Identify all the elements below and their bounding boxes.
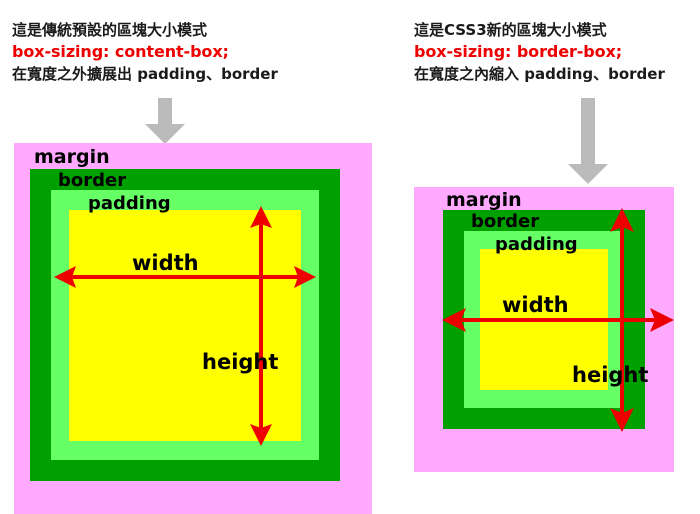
down-arrow-icon-left xyxy=(138,98,192,146)
caption-right-line-1: 這是CSS3新的區塊大小模式 xyxy=(414,20,665,41)
height-label-left: height xyxy=(202,350,278,374)
caption-left-code: box-sizing: content-box; xyxy=(12,41,278,64)
margin-label-right: margin xyxy=(446,189,522,211)
height-label-right: height xyxy=(572,363,648,387)
caption-left-line-3: 在寬度之外擴展出 padding、border xyxy=(12,64,278,85)
caption-border-box: 這是CSS3新的區塊大小模式 box-sizing: border-box; 在… xyxy=(414,20,665,85)
padding-label-right: padding xyxy=(495,234,578,255)
border-label-right: border xyxy=(471,211,539,232)
caption-left-line-1: 這是傳統預設的區塊大小模式 xyxy=(12,20,278,41)
caption-right-code: box-sizing: border-box; xyxy=(414,41,665,64)
margin-label-left: margin xyxy=(34,146,110,168)
caption-right-line-3: 在寬度之內縮入 padding、border xyxy=(414,64,665,85)
box-model-diagram-content-box: margin border padding width height xyxy=(14,143,372,514)
box-model-diagram-border-box: margin border padding width height xyxy=(414,187,674,472)
width-label-right: width xyxy=(502,293,569,317)
height-arrow-right xyxy=(610,208,634,432)
down-arrow-icon-right xyxy=(561,98,615,186)
height-arrow-left xyxy=(249,206,273,446)
border-label-left: border xyxy=(58,170,126,191)
padding-label-left: padding xyxy=(88,193,171,214)
width-label-left: width xyxy=(132,251,199,275)
caption-content-box: 這是傳統預設的區塊大小模式 box-sizing: content-box; 在… xyxy=(12,20,278,85)
